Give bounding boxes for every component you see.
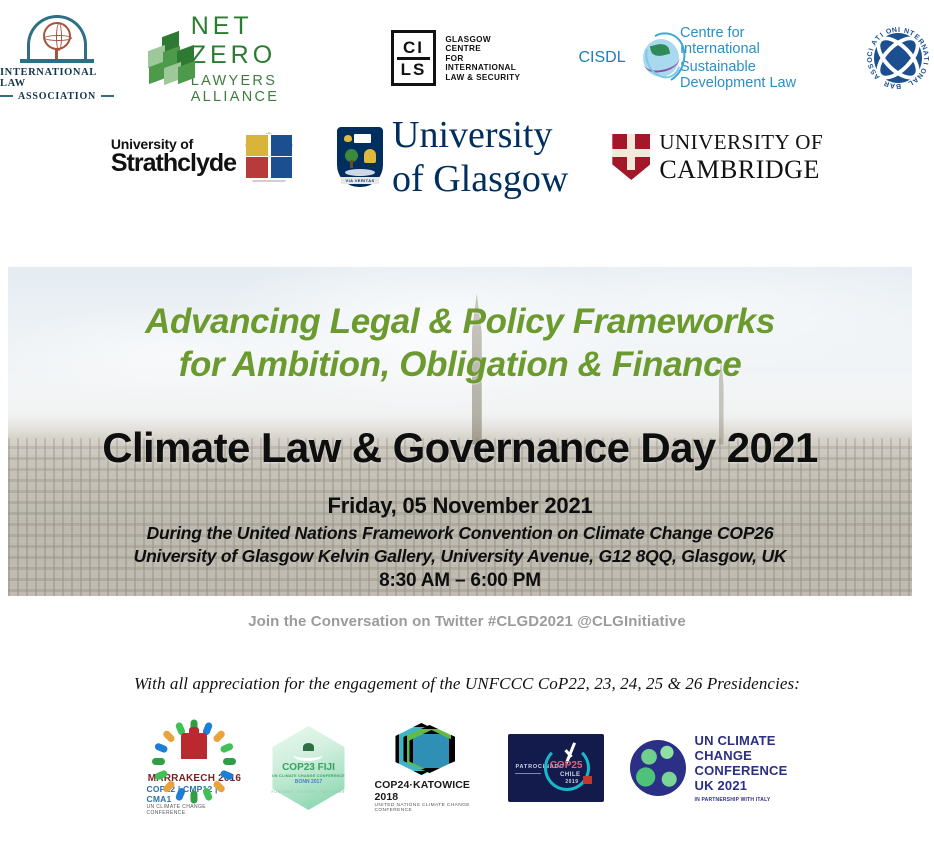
hero-content: Advancing Legal & Policy Frameworks for … (8, 267, 912, 596)
gcils-line2: FOR INTERNATIONAL (445, 54, 522, 72)
cop23-wave-icon (293, 749, 323, 761)
cop25-flag-icon (583, 776, 592, 784)
cop22-line3: UN CLIMATE CHANGE CONFERENCE (146, 804, 242, 816)
glasgow-motto: VIA VERITAS VITA (341, 177, 379, 184)
ila-rule-right (101, 95, 114, 97)
gcils-wordmark: GLASGOW CENTRE FOR INTERNATIONAL LAW & S… (445, 35, 522, 82)
cop26-line5: IN PARTNERSHIP WITH ITALY (694, 797, 787, 803)
cop22-rosette-icon (163, 720, 225, 772)
twitter-call-to-action: Join the Conversation on Twitter #CLGD20… (0, 613, 934, 630)
cisdl-line1: Centre for International (680, 25, 812, 57)
ila-globe-arch-icon (20, 15, 94, 65)
presidency-logo-row: MARRAKECH 2016 COP22 | CMP12 | CMA1 UN C… (0, 716, 934, 820)
logo-cisdl: CISDL Centre for International Sustainab… (578, 25, 812, 91)
glasgow-crest-icon: VIA VERITAS VITA (337, 127, 383, 187)
cop23-content: COP23 FIJI UN CLIMATE CHANGE CONFERENCE … (268, 726, 348, 810)
gcils-line3: LAW & SECURITY (445, 73, 522, 82)
partner-logo-row-universities: University of Strathclyde VIA VERITAS VI… (0, 112, 934, 202)
cop26-wordmark: UN CLIMATE CHANGE CONFERENCE UK 2021 IN … (694, 733, 787, 803)
net-zero-line2: LAWYERS ALLIANCE (191, 73, 323, 105)
gcils-monogram-bottom: LS (401, 61, 427, 78)
cop25-line1: COP25 (550, 760, 583, 771)
cambridge-wordmark: UNIVERSITY OF CAMBRIDGE (659, 130, 823, 185)
net-zero-line1: NET ZERO (191, 12, 323, 70)
iba-emblem-icon: INTERNATIONAL BAR ASSOCIATION (862, 20, 934, 96)
cop26-line1: UN CLIMATE (694, 733, 787, 748)
event-details: Friday, 05 November 2021 During the Unit… (8, 493, 912, 592)
cop23-line2: UN CLIMATE CHANGE CONFERENCE (272, 774, 345, 778)
logo-net-zero-lawyers-alliance: NET ZERO LAWYERS ALLIANCE (148, 12, 323, 105)
ila-rule-left (0, 95, 13, 97)
event-date: Friday, 05 November 2021 (8, 493, 912, 519)
net-zero-wordmark: NET ZERO LAWYERS ALLIANCE (191, 12, 323, 105)
cisdl-abbreviation: CISDL (578, 49, 625, 67)
cop25-line2: CHILE (560, 772, 581, 778)
glasgow-wordmark: University of Glasgow (392, 113, 568, 201)
iba-ring-text: INTERNATIONAL BAR ASSOCIATION (862, 20, 934, 96)
cisdl-wordmark: Centre for International Sustainable Dev… (680, 25, 812, 91)
glasgow-line1: University (392, 113, 568, 157)
logo-university-of-glasgow: VIA VERITAS VITA University of Glasgow (337, 113, 568, 201)
logo-cop24-katowice: COP24·KATOWICE 2018 UNITED NATIONS CLIMA… (374, 723, 482, 813)
event-context: During the United Nations Framework Conv… (8, 522, 912, 545)
cop23-line3: BONN 2017 (295, 779, 322, 785)
cop24-hexagon-icon (395, 723, 461, 779)
cop26-globe-icon (630, 740, 686, 796)
strathclyde-line2: Strathclyde (111, 149, 236, 178)
event-subtitle: Advancing Legal & Policy Frameworks for … (8, 301, 912, 386)
strathclyde-wordmark: University of Strathclyde (111, 136, 236, 178)
logo-cop22-marrakech: MARRAKECH 2016 COP22 | CMP12 | CMA1 UN C… (146, 720, 242, 816)
cop23-line1: COP23 FIJI (282, 762, 335, 773)
logo-cop25-chile: PATROCINADO COP25 CHILE 2019 (508, 734, 604, 802)
net-zero-cubes-icon (148, 32, 182, 84)
cisdl-globe-icon (635, 28, 671, 88)
logo-cop23-fiji: COP23 FIJI UN CLIMATE CHANGE CONFERENCE … (268, 726, 348, 810)
cop25-rule (515, 773, 541, 774)
gcils-line1: GLASGOW CENTRE (445, 35, 522, 53)
gcils-monogram-icon: CI LS (391, 30, 437, 86)
cop24-line2: UNITED NATIONS CLIMATE CHANGE CONFERENCE (374, 803, 482, 813)
logo-glasgow-centre-international-law-security: CI LS GLASGOW CENTRE FOR INTERNATIONAL L… (391, 30, 523, 86)
ila-name-line2: ASSOCIATION (18, 91, 96, 102)
logo-cop26-uk: UN CLIMATE CHANGE CONFERENCE UK 2021 IN … (630, 733, 787, 803)
logo-international-law-association: INTERNATIONAL LAW ASSOCIATION (0, 15, 114, 102)
hero-banner: Advancing Legal & Policy Frameworks for … (8, 267, 912, 596)
cisdl-line2: Sustainable Development Law (680, 59, 812, 91)
cop26-line2: CHANGE (694, 748, 787, 763)
event-time: 8:30 AM – 6:00 PM (8, 570, 912, 592)
gcils-monogram-top: CI (403, 39, 424, 56)
event-subtitle-line1: Advancing Legal & Policy Frameworks (8, 301, 912, 344)
strathclyde-crest-icon (245, 132, 293, 182)
partner-logo-row-top: INTERNATIONAL LAW ASSOCIATION NET ZERO L… (0, 12, 934, 104)
cop26-line3: CONFERENCE (694, 763, 787, 778)
logo-international-bar-association: INTERNATIONAL BAR ASSOCIATION (862, 20, 934, 96)
cambridge-line2: CAMBRIDGE (659, 155, 823, 185)
appreciation-note: With all appreciation for the engagement… (0, 674, 934, 694)
cop25-line3: 2019 (565, 779, 578, 785)
event-subtitle-line2: for Ambition, Obligation & Finance (8, 344, 912, 387)
flyer-page: INTERNATIONAL LAW ASSOCIATION NET ZERO L… (0, 0, 934, 855)
cambridge-line1: UNIVERSITY OF (659, 130, 823, 155)
cop26-line4: UK 2021 (694, 778, 787, 793)
ila-name-line2-wrap: ASSOCIATION (0, 91, 114, 102)
logo-university-of-cambridge: UNIVERSITY OF CAMBRIDGE (612, 130, 823, 185)
cop24-line1: COP24·KATOWICE 2018 (374, 779, 482, 803)
glasgow-line2: of Glasgow (392, 157, 568, 201)
ila-name-line1: INTERNATIONAL LAW (0, 67, 114, 89)
event-title: Climate Law & Governance Day 2021 (8, 424, 912, 472)
cop23-line4: FURTHER, FASTER, TOGETHER (271, 790, 345, 794)
cambridge-crest-icon (612, 134, 650, 180)
logo-university-of-strathclyde: University of Strathclyde (111, 132, 293, 182)
event-venue: University of Glasgow Kelvin Gallery, Un… (8, 545, 912, 568)
